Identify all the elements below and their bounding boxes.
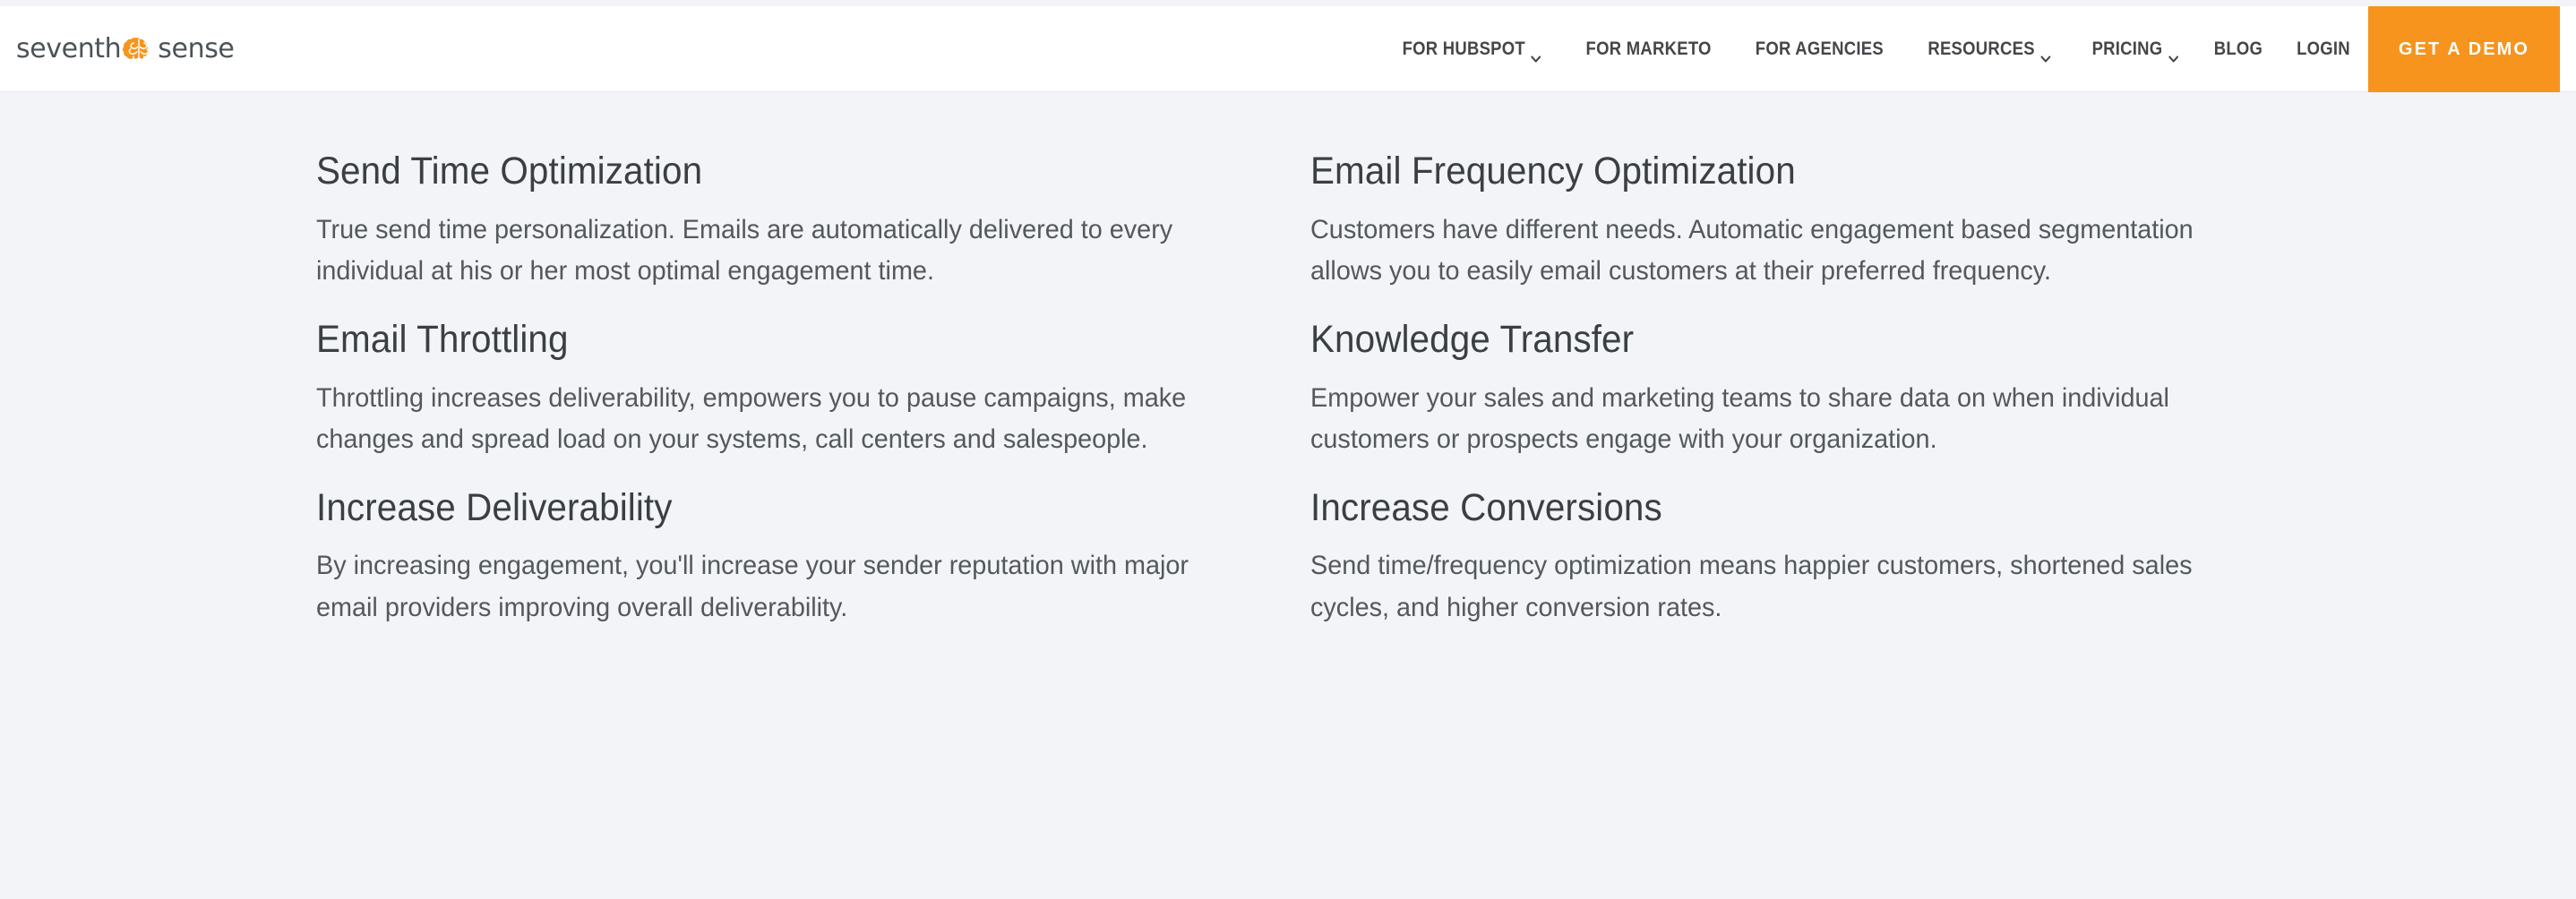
nav-item-for-agencies[interactable]: FOR AGENCIES (1744, 39, 1896, 60)
nav-label: RESOURCES (1928, 39, 2034, 60)
feature-body: True send time personalization. Emails a… (316, 210, 1228, 293)
features-columns: Send Time Optimization True send time pe… (0, 148, 2576, 652)
feature-title: Email Frequency Optimization (1310, 148, 2279, 196)
site-logo[interactable]: seventh sense (16, 36, 235, 63)
feature-title: Send Time Optimization (316, 148, 1250, 196)
get-a-demo-button[interactable]: GET A DEMO (2368, 6, 2560, 92)
feature-body: Throttling increases deliverability, emp… (316, 378, 1228, 461)
feature-send-time-optimization: Send Time Optimization True send time pe… (316, 148, 1310, 293)
feature-title: Email Throttling (316, 316, 1250, 364)
features-column-right: Email Frequency Optimization Customers h… (1310, 148, 2340, 652)
nav-label: FOR HUBSPOT (1402, 39, 1524, 60)
features-section: Send Time Optimization True send time pe… (0, 92, 2576, 899)
nav-item-pricing[interactable]: PRICING (2080, 39, 2190, 60)
feature-email-frequency-optimization: Email Frequency Optimization Customers h… (1310, 148, 2340, 293)
feature-title: Increase Deliverability (316, 484, 1250, 533)
chevron-down-icon (2040, 47, 2050, 54)
feature-knowledge-transfer: Knowledge Transfer Empower your sales an… (1310, 316, 2340, 461)
feature-email-throttling: Email Throttling Throttling increases de… (316, 316, 1310, 461)
nav-item-for-marketo[interactable]: FOR MARKETO (1574, 39, 1723, 60)
feature-body: Customers have different needs. Automati… (1310, 210, 2265, 293)
nav-label: LOGIN (2297, 39, 2350, 60)
site-header: seventh sense FOR HUBSPOT (0, 6, 2576, 92)
feature-title: Increase Conversions (1310, 484, 2279, 533)
nav-item-resources[interactable]: RESOURCES (1916, 39, 2062, 60)
feature-increase-deliverability: Increase Deliverability By increasing en… (316, 484, 1310, 629)
feature-body: Empower your sales and marketing teams t… (1310, 378, 2265, 461)
logo-text-left: seventh (16, 36, 121, 63)
main-navigation: FOR HUBSPOT FOR MARKETO FOR AGENCIES RES… (1379, 39, 2367, 60)
nav-label: FOR MARKETO (1585, 39, 1711, 60)
brain-icon (122, 37, 156, 64)
logo-text-right: sense (158, 36, 234, 63)
features-column-left: Send Time Optimization True send time pe… (316, 148, 1310, 652)
chevron-down-icon (2168, 47, 2177, 54)
nav-label: FOR AGENCIES (1756, 39, 1884, 60)
chevron-down-icon (1531, 47, 1541, 54)
nav-item-for-hubspot[interactable]: FOR HUBSPOT (1390, 39, 1552, 60)
nav-label: PRICING (2091, 39, 2162, 60)
feature-body: Send time/frequency optimization means h… (1310, 545, 2265, 629)
top-strip (0, 0, 2576, 6)
feature-body: By increasing engagement, you'll increas… (316, 545, 1228, 629)
feature-increase-conversions: Increase Conversions Send time/frequency… (1310, 484, 2340, 629)
nav-item-blog[interactable]: BLOG (2202, 39, 2275, 60)
nav-label: BLOG (2214, 39, 2263, 60)
feature-title: Knowledge Transfer (1310, 316, 2279, 364)
nav-item-login[interactable]: LOGIN (2285, 39, 2362, 60)
